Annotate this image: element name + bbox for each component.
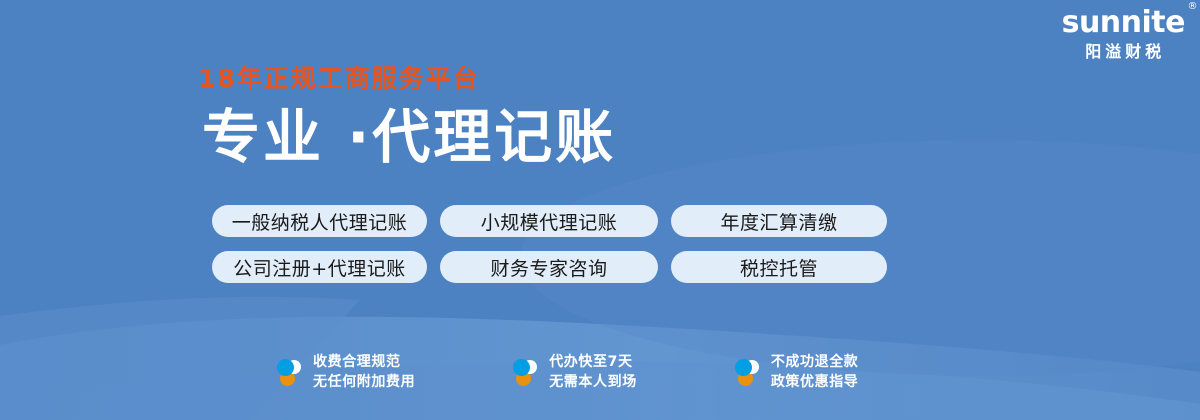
feature-line-2: 政策优惠指导: [771, 374, 859, 390]
logo-wordmark-text: sunnite: [1062, 5, 1185, 40]
headline-kicker: 18年正规工商服务平台: [198, 66, 616, 91]
feature-line-1: 收费合理规范: [313, 354, 401, 370]
dual-circle-icon: [513, 357, 539, 387]
dual-circle-icon-primary: [735, 359, 752, 376]
service-pill-expert-consulting[interactable]: 财务专家咨询: [440, 251, 658, 283]
dual-circle-icon: [277, 357, 303, 387]
feature-list: 收费合理规范 无任何附加费用 代办快至7天 无需本人到场 不成功退全款: [277, 352, 858, 393]
feature-text-guarantee: 不成功退全款 政策优惠指导: [771, 352, 859, 393]
logo-chinese-name: 阳溢财税: [1062, 45, 1185, 61]
feature-item-pricing: 收费合理规范 无任何附加费用: [277, 352, 415, 393]
headline-block: 18年正规工商服务平台 专业 ·代理记账: [198, 66, 616, 168]
registered-trademark-icon: ®: [1188, 2, 1198, 12]
feature-line-2: 无任何附加费用: [313, 374, 415, 390]
feature-line-1: 代办快至7天: [549, 354, 632, 370]
brand-logo[interactable]: sunnite ® 阳溢财税: [1062, 8, 1185, 61]
promo-banner: sunnite ® 阳溢财税 18年正规工商服务平台 专业 ·代理记账 一般纳税…: [0, 0, 1200, 420]
dual-circle-icon: [735, 357, 761, 387]
feature-text-speed: 代办快至7天 无需本人到场: [549, 352, 637, 393]
feature-line-2: 无需本人到场: [549, 374, 637, 390]
service-pill-general-taxpayer[interactable]: 一般纳税人代理记账: [212, 205, 427, 237]
feature-item-guarantee: 不成功退全款 政策优惠指导: [735, 352, 859, 393]
service-pill-grid: 一般纳税人代理记账 小规模代理记账 年度汇算清缴 公司注册+代理记账 财务专家咨…: [212, 205, 887, 283]
service-pill-company-registration[interactable]: 公司注册+代理记账: [212, 251, 427, 283]
feature-item-speed: 代办快至7天 无需本人到场: [513, 352, 637, 393]
service-pill-annual-settlement[interactable]: 年度汇算清缴: [671, 205, 887, 237]
service-pill-small-scale[interactable]: 小规模代理记账: [440, 205, 658, 237]
page-title: 专业 ·代理记账: [202, 107, 616, 168]
service-pill-tax-control-hosting[interactable]: 税控托管: [671, 251, 887, 283]
logo-wordmark: sunnite ®: [1062, 8, 1185, 38]
feature-line-1: 不成功退全款: [771, 354, 859, 370]
feature-text-pricing: 收费合理规范 无任何附加费用: [313, 352, 415, 393]
